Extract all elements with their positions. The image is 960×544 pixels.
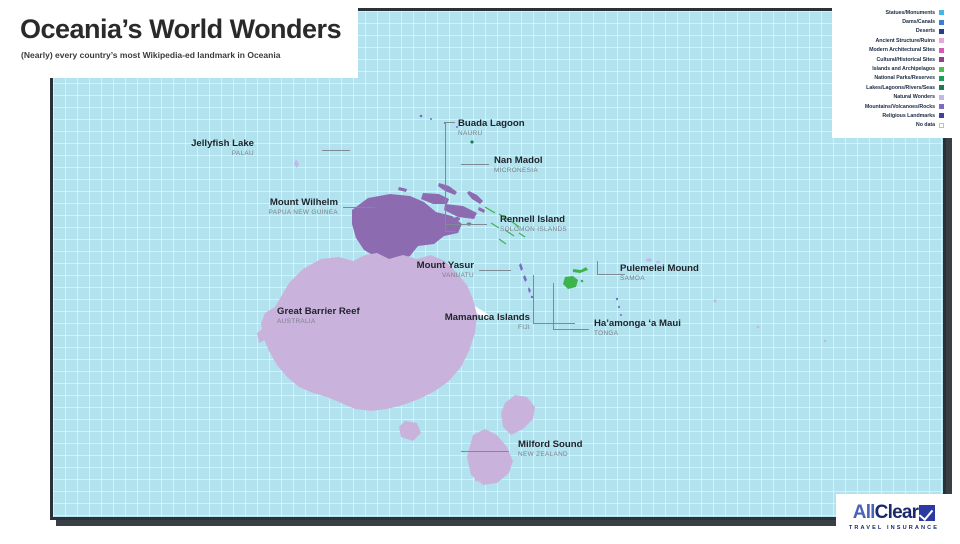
- legend-item: Natural Wonders: [832, 93, 952, 102]
- legend-item: Ancient Structure/Ruins: [832, 36, 952, 45]
- leader-line-jellyfish-lake: [322, 150, 350, 151]
- leader-line-mount-wilhelm: [343, 207, 375, 208]
- leader-line-mamanuca-v: [533, 275, 534, 323]
- legend-label: Mountains/Volcanoes/Rocks: [865, 104, 935, 110]
- legend-label: Deserts: [916, 28, 935, 34]
- label-country: SOLOMON ISLANDS: [500, 226, 567, 234]
- map-label-buada-lagoon: Buada Lagoon NAURU: [458, 118, 525, 138]
- legend-label: National Parks/Reserves: [874, 75, 935, 81]
- legend-swatch-deserts: [939, 29, 944, 34]
- leader-line-buada-bracket-v: [445, 122, 446, 231]
- legend-item: National Parks/Reserves: [832, 74, 952, 83]
- label-name: Pulemelei Mound: [620, 263, 699, 274]
- legend-swatch-modern-architectural-sites: [939, 48, 944, 53]
- legend-label: No data: [916, 122, 935, 128]
- legend-item: Religious Landmarks: [832, 111, 952, 120]
- legend-label: Islands and Archipelagos: [872, 66, 935, 72]
- map-label-mount-yasur: Mount Yasur VANUATU: [294, 260, 474, 280]
- legend-swatch-mountains-volcanoes-rocks: [939, 104, 944, 109]
- map-panel: [50, 8, 946, 520]
- map-label-nan-madol: Nan Madol MICRONESIA: [494, 155, 543, 175]
- legend-label: Statues/Monuments: [886, 10, 935, 16]
- page-subtitle: (Nearly) every country’s most Wikipedia-…: [21, 50, 280, 60]
- leader-line-buada-bracket-top: [445, 122, 455, 123]
- label-name: Milford Sound: [518, 439, 582, 450]
- leader-line-nan-madol: [461, 164, 489, 165]
- map-label-jellyfish-lake: Jellyfish Lake PALAU: [134, 138, 254, 158]
- legend-label: Modern Architectural Sites: [869, 47, 935, 53]
- label-country: SAMOA: [620, 275, 699, 283]
- legend-swatch-islands-archipelagos: [939, 67, 944, 72]
- checkmark-icon: [919, 505, 935, 521]
- legend-swatch-dams-canals: [939, 20, 944, 25]
- label-name: Rennell Island: [500, 214, 567, 225]
- label-country: FIJI: [350, 324, 530, 332]
- leader-line-mount-yasur: [479, 270, 511, 271]
- label-name: Great Barrier Reef: [277, 306, 360, 317]
- legend-item: Statues/Monuments: [832, 8, 952, 17]
- leader-line-milford-sound: [461, 451, 509, 452]
- label-name: Mount Yasur: [294, 260, 474, 271]
- landmass-layer: [53, 11, 943, 517]
- logo-clear-text: Clear: [875, 503, 919, 523]
- legend-item: Lakes/Lagoons/Rivers/Seas: [832, 83, 952, 92]
- map-label-mount-wilhelm: Mount Wilhelm PAPUA NEW GUINEA: [158, 197, 338, 217]
- label-country: VANUATU: [294, 272, 474, 280]
- label-country: AUSTRALIA: [277, 318, 360, 326]
- map-label-pulemelei-mound: Pulemelei Mound SAMOA: [620, 263, 699, 283]
- label-name: Mount Wilhelm: [158, 197, 338, 208]
- logo-wordmark: AllClear: [853, 503, 935, 523]
- label-country: PALAU: [134, 150, 254, 158]
- leader-line-buada-bracket-bottom: [445, 231, 455, 232]
- legend-label: Ancient Structure/Ruins: [876, 38, 935, 44]
- legend-swatch-natural-wonders: [939, 95, 944, 100]
- label-country: PAPUA NEW GUINEA: [158, 209, 338, 217]
- legend-item: Cultural/Historical Sites: [832, 55, 952, 64]
- legend-panel: Statues/Monuments Dams/Canals Deserts An…: [832, 0, 952, 138]
- map-label-rennell-island: Rennell Island SOLOMON ISLANDS: [500, 214, 567, 234]
- legend-item: Islands and Archipelagos: [832, 64, 952, 73]
- leader-line-tonga-v: [553, 283, 554, 329]
- legend-swatch-statues-monuments: [939, 10, 944, 15]
- legend-item: Dams/Canals: [832, 17, 952, 26]
- map-label-great-barrier-reef: Great Barrier Reef AUSTRALIA: [277, 306, 360, 326]
- legend-item: Mountains/Volcanoes/Rocks: [832, 102, 952, 111]
- legend-swatch-religious-landmarks: [939, 113, 944, 118]
- logo-all-text: All: [853, 503, 875, 523]
- map-label-milford-sound: Milford Sound NEW ZEALAND: [518, 439, 582, 459]
- logo-tagline: TRAVEL INSURANCE: [849, 525, 939, 531]
- legend-swatch-lakes-lagoons-rivers-seas: [939, 85, 944, 90]
- label-name: Jellyfish Lake: [134, 138, 254, 149]
- legend-item: Deserts: [832, 27, 952, 36]
- leader-line-rennell-island: [445, 224, 487, 225]
- legend-item: Modern Architectural Sites: [832, 46, 952, 55]
- legend-swatch-cultural-historical-sites: [939, 57, 944, 62]
- header-card: Oceania’s World Wonders (Nearly) every c…: [0, 0, 358, 78]
- legend-swatch-ancient-structure-ruins: [939, 38, 944, 43]
- label-name: Buada Lagoon: [458, 118, 525, 129]
- label-name: Nan Madol: [494, 155, 543, 166]
- label-name: Mamanuca Islands: [350, 312, 530, 323]
- legend-item: No data: [832, 121, 952, 130]
- leader-line-mamanuca: [533, 323, 575, 324]
- label-country: NEW ZEALAND: [518, 451, 582, 459]
- legend-label: Cultural/Historical Sites: [876, 57, 935, 63]
- legend-swatch-no-data: [939, 123, 944, 128]
- label-name: Ha’amonga ‘a Maui: [594, 318, 681, 329]
- legend-label: Religious Landmarks: [882, 113, 935, 119]
- map-label-mamanuca-islands: Mamanuca Islands FIJI: [350, 312, 530, 332]
- leader-line-samoa-bracket-v: [597, 261, 598, 275]
- label-country: MICRONESIA: [494, 167, 543, 175]
- label-country: TONGA: [594, 330, 681, 338]
- legend-label: Dams/Canals: [902, 19, 935, 25]
- map-label-haamonga-a-maui: Ha’amonga ‘a Maui TONGA: [594, 318, 681, 338]
- label-country: NAURU: [458, 130, 525, 138]
- legend-label: Natural Wonders: [893, 94, 935, 100]
- legend-label: Lakes/Lagoons/Rivers/Seas: [866, 85, 935, 91]
- page-title: Oceania’s World Wonders: [20, 14, 341, 45]
- allclear-logo[interactable]: AllClear TRAVEL INSURANCE: [836, 494, 952, 540]
- legend-swatch-national-parks-reserves: [939, 76, 944, 81]
- infographic-canvas: Oceania’s World Wonders (Nearly) every c…: [0, 0, 960, 544]
- leader-line-tonga: [553, 329, 589, 330]
